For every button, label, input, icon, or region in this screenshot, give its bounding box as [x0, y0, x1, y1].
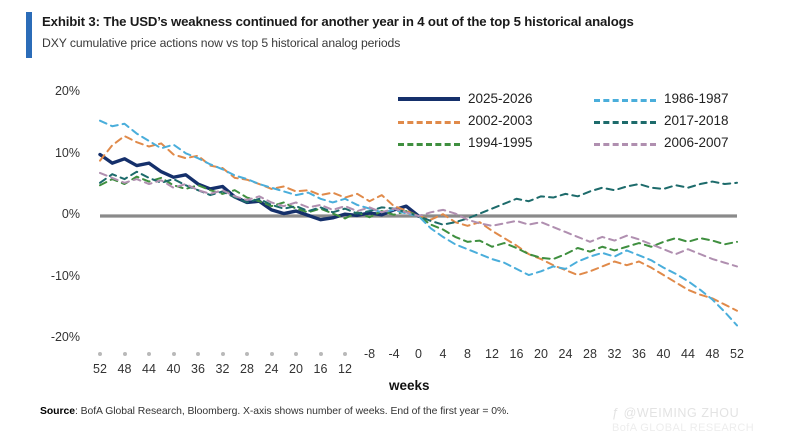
x-tick-label: 16: [308, 362, 334, 376]
y-tick-label: 20%: [34, 84, 80, 98]
x-tick-label: 36: [185, 362, 211, 376]
legend-swatch-2017-2018: [594, 121, 656, 124]
legend-label: 2002-2003: [468, 110, 533, 131]
source-note: Source: BofA Global Research, Bloomberg.…: [40, 406, 640, 417]
series-line-2006-2007: [100, 173, 737, 266]
x-tick-label: 48: [112, 362, 138, 376]
x-tick-label: 52: [87, 362, 113, 376]
x-tick-label: 0: [406, 347, 432, 361]
x-tick-label: 12: [332, 362, 358, 376]
x-tick-label: 48: [700, 347, 726, 361]
source-text: : BofA Global Research, Bloomberg. X-axi…: [75, 406, 509, 417]
legend-label: 2025-2026: [468, 88, 533, 109]
legend-item[interactable]: 1994-1995: [398, 132, 578, 154]
x-tick-label: 28: [234, 362, 260, 376]
source-label: Source: [40, 406, 75, 417]
legend-label: 1994-1995: [468, 132, 533, 153]
x-tick-label: 16: [504, 347, 530, 361]
watermark-handle: ƒ @WEIMING ZHOU: [612, 406, 782, 420]
watermark-brand: BofA GLOBAL RESEARCH: [612, 422, 782, 434]
x-tick-dot: [245, 352, 249, 356]
x-tick-dot: [147, 352, 151, 356]
x-tick-dot: [196, 352, 200, 356]
x-tick-label: 28: [577, 347, 603, 361]
x-tick-label: 12: [479, 347, 505, 361]
x-tick-dot: [294, 352, 298, 356]
legend-column-right: 1986-19872017-20182006-2007: [594, 88, 774, 154]
y-tick-label: -10%: [34, 269, 80, 283]
legend-swatch-2002-2003: [398, 121, 460, 124]
y-tick-label: 10%: [34, 146, 80, 160]
x-tick-dot: [319, 352, 323, 356]
x-axis-title: weeks: [389, 378, 430, 393]
x-tick-label: 24: [553, 347, 579, 361]
x-tick-label: -8: [357, 347, 383, 361]
x-tick-dot: [123, 352, 127, 356]
x-tick-label: 20: [283, 362, 309, 376]
x-tick-label: 32: [602, 347, 628, 361]
series-line-2002-2003: [100, 136, 737, 311]
x-tick-label: 24: [259, 362, 285, 376]
x-tick-label: 4: [430, 347, 456, 361]
x-tick-label: -4: [381, 347, 407, 361]
x-tick-label: 20: [528, 347, 554, 361]
header-accent-bar: [26, 12, 32, 58]
legend-swatch-2025-2026: [398, 97, 460, 101]
legend-label: 2017-2018: [664, 110, 729, 131]
x-tick-label: 40: [651, 347, 677, 361]
x-tick-label: 32: [210, 362, 236, 376]
y-tick-label: -20%: [34, 330, 80, 344]
y-tick-label: 0%: [34, 207, 80, 221]
x-tick-dot: [172, 352, 176, 356]
chart-page: Exhibit 3: The USD’s weakness continued …: [0, 0, 787, 447]
page-title: Exhibit 3: The USD’s weakness continued …: [42, 14, 762, 29]
x-tick-dot: [270, 352, 274, 356]
x-tick-label: 8: [455, 347, 481, 361]
watermark: ƒ @WEIMING ZHOU BofA GLOBAL RESEARCH: [612, 406, 782, 434]
x-tick-label: 44: [136, 362, 162, 376]
x-tick-label: 40: [161, 362, 187, 376]
x-tick-label: 44: [675, 347, 701, 361]
x-tick-label: 36: [626, 347, 652, 361]
legend-item[interactable]: 2025-2026: [398, 88, 578, 110]
legend-label: 2006-2007: [664, 132, 729, 153]
legend-swatch-1986-1987: [594, 99, 656, 102]
legend-item[interactable]: 1986-1987: [594, 88, 774, 110]
chart-legend: 2025-20262002-20031994-1995 1986-1987201…: [398, 88, 758, 156]
legend-swatch-1994-1995: [398, 143, 460, 146]
x-tick-dot: [343, 352, 347, 356]
page-subtitle: DXY cumulative price actions now vs top …: [42, 36, 762, 50]
legend-item[interactable]: 2002-2003: [398, 110, 578, 132]
x-tick-dot: [98, 352, 102, 356]
legend-swatch-2006-2007: [594, 143, 656, 146]
legend-column-left: 2025-20262002-20031994-1995: [398, 88, 578, 154]
x-tick-dot: [221, 352, 225, 356]
legend-item[interactable]: 2006-2007: [594, 132, 774, 154]
exhibit-header: Exhibit 3: The USD’s weakness continued …: [0, 0, 787, 70]
legend-label: 1986-1987: [664, 88, 729, 109]
x-tick-label: 52: [724, 347, 750, 361]
legend-item[interactable]: 2017-2018: [594, 110, 774, 132]
